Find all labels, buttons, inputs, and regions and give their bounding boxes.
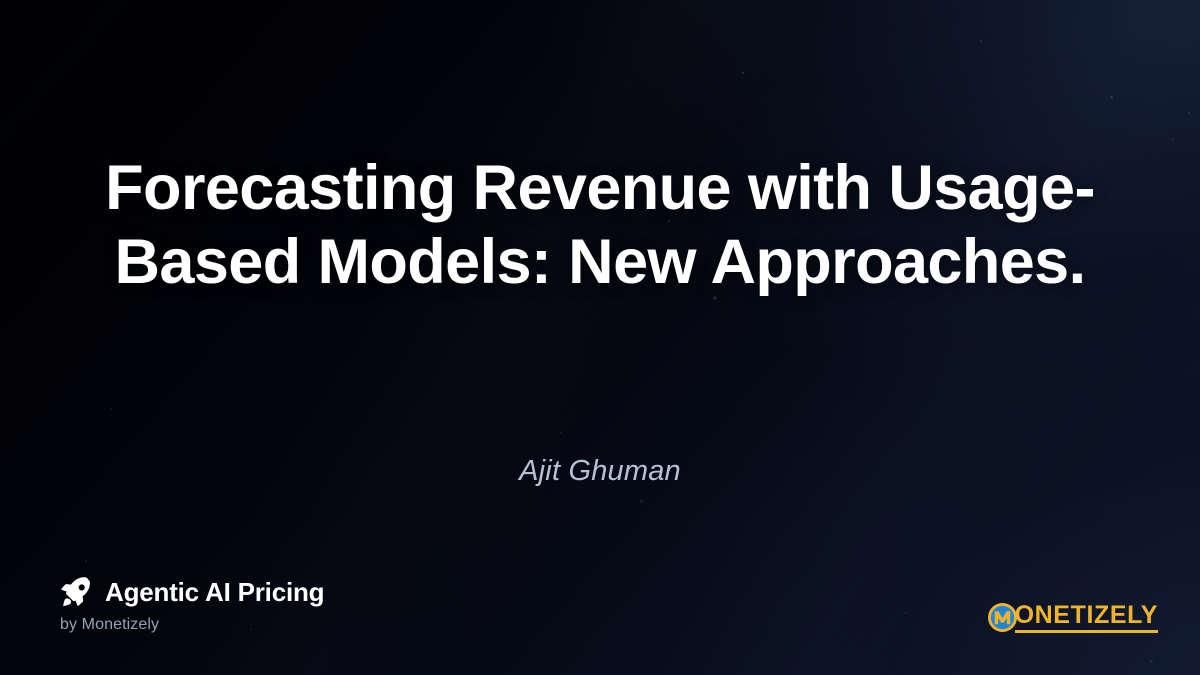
brand-lockup: Agentic AI Pricing by Monetizely — [60, 576, 324, 633]
title-slide: Forecasting Revenue with Usage-Based Mod… — [0, 0, 1200, 675]
monetizely-logo: ONETIZELY — [987, 602, 1158, 633]
background-sheen — [0, 0, 1200, 675]
brand-name: Agentic AI Pricing — [105, 579, 324, 605]
starfield — [0, 0, 1200, 675]
title-block: Forecasting Revenue with Usage-Based Mod… — [0, 152, 1200, 299]
author-name: Ajit Ghuman — [0, 455, 1200, 488]
monetizely-wordmark: ONETIZELY — [1015, 603, 1158, 633]
monetizely-logo-icon — [987, 602, 1018, 633]
page-title: Forecasting Revenue with Usage-Based Mod… — [90, 152, 1110, 299]
rocket-icon — [60, 576, 92, 608]
brand-tagline: by Monetizely — [60, 617, 324, 633]
brand-row: Agentic AI Pricing — [60, 576, 324, 608]
